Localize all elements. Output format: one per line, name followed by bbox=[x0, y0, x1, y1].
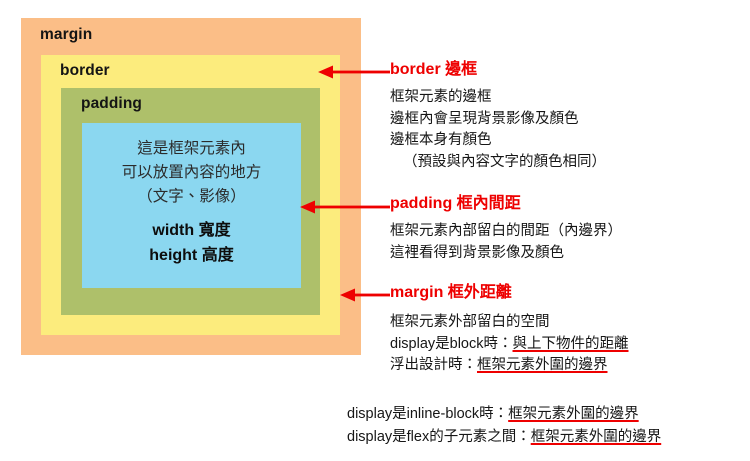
annotation-bottom-line-2-emphasis: 框架元素外圍的邊界 bbox=[531, 429, 662, 445]
annotation-border-line-1: 框架元素的邊框 bbox=[390, 87, 606, 109]
annotation-border-title: border 邊框 bbox=[390, 60, 606, 80]
content-line-3: （文字、影像） bbox=[82, 185, 301, 209]
annotation-border-line-2: 邊框內會呈現背景影像及顏色 bbox=[390, 109, 606, 131]
annotation-margin-line-3-prefix: 浮出設計時： bbox=[390, 357, 477, 373]
annotation-bottom-line-2: display是flex的子元素之間：框架元素外圍的邊界 bbox=[347, 426, 750, 449]
annotation-padding-line-2: 這裡看得到背景影像及顏色 bbox=[390, 243, 622, 265]
content-layer-text: 這是框架元素內 可以放置內容的地方 （文字、影像） width 寬度 heigh… bbox=[82, 137, 301, 268]
annotation-padding-body: 框架元素內部留白的間距（內邊界） 這裡看得到背景影像及顏色 bbox=[390, 221, 622, 264]
content-height-label: height 高度 bbox=[82, 243, 301, 268]
margin-arrow-icon bbox=[340, 288, 390, 302]
annotation-margin-title: margin 框外距離 bbox=[390, 283, 629, 303]
annotation-bottom-line-1-emphasis: 框架元素外圍的邊界 bbox=[508, 406, 639, 422]
border-arrow-icon bbox=[318, 65, 390, 79]
annotation-margin-line-2-emphasis: 與上下物件的距離 bbox=[513, 336, 629, 352]
annotation-padding-title: padding 框內間距 bbox=[390, 194, 622, 214]
annotation-margin-line-2: display是block時：與上下物件的距離 bbox=[390, 334, 629, 356]
annotation-margin: margin 框外距離 框架元素外部留白的空間 display是block時：與… bbox=[390, 283, 629, 377]
content-width-label: width 寬度 bbox=[82, 218, 301, 243]
annotation-margin-body: 框架元素外部留白的空間 display是block時：與上下物件的距離 浮出設計… bbox=[390, 312, 629, 377]
margin-layer-label: margin bbox=[40, 26, 92, 44]
content-line-2: 可以放置內容的地方 bbox=[82, 161, 301, 185]
annotation-border-body: 框架元素的邊框 邊框內會呈現背景影像及顏色 邊框本身有顏色 （預設與內容文字的顏… bbox=[390, 87, 606, 173]
border-layer-label: border bbox=[60, 62, 110, 80]
annotation-padding-line-1: 框架元素內部留白的間距（內邊界） bbox=[390, 221, 622, 243]
annotation-bottom-line-1-prefix: display是inline-block時： bbox=[347, 406, 508, 422]
annotation-column: border 邊框 框架元素的邊框 邊框內會呈現背景影像及顏色 邊框本身有顏色 … bbox=[390, 0, 750, 461]
annotation-margin-line-3-emphasis: 框架元素外圍的邊界 bbox=[477, 357, 608, 373]
annotation-bottom: display是inline-block時：框架元素外圍的邊界 display是… bbox=[347, 403, 750, 449]
annotation-bottom-line-1: display是inline-block時：框架元素外圍的邊界 bbox=[347, 403, 750, 426]
annotation-border-line-3: 邊框本身有顏色 bbox=[390, 130, 606, 152]
annotation-border-line-4: （預設與內容文字的顏色相同） bbox=[390, 152, 606, 174]
content-line-1: 這是框架元素內 bbox=[82, 137, 301, 161]
annotation-padding: padding 框內間距 框架元素內部留白的間距（內邊界） 這裡看得到背景影像及… bbox=[390, 194, 622, 264]
padding-arrow-icon bbox=[300, 200, 390, 214]
content-layer: 這是框架元素內 可以放置內容的地方 （文字、影像） width 寬度 heigh… bbox=[82, 123, 301, 288]
annotation-bottom-line-2-prefix: display是flex的子元素之間： bbox=[347, 429, 531, 445]
annotation-margin-line-3: 浮出設計時：框架元素外圍的邊界 bbox=[390, 355, 629, 377]
annotation-margin-line-1: 框架元素外部留白的空間 bbox=[390, 312, 629, 334]
padding-layer-label: padding bbox=[81, 95, 142, 113]
content-dimensions: width 寬度 height 高度 bbox=[82, 218, 301, 268]
annotation-border: border 邊框 框架元素的邊框 邊框內會呈現背景影像及顏色 邊框本身有顏色 … bbox=[390, 60, 606, 173]
annotation-margin-line-2-prefix: display是block時： bbox=[390, 336, 513, 352]
box-model-diagram: margin border padding 這是框架元素內 可以放置內容的地方 … bbox=[21, 18, 361, 355]
